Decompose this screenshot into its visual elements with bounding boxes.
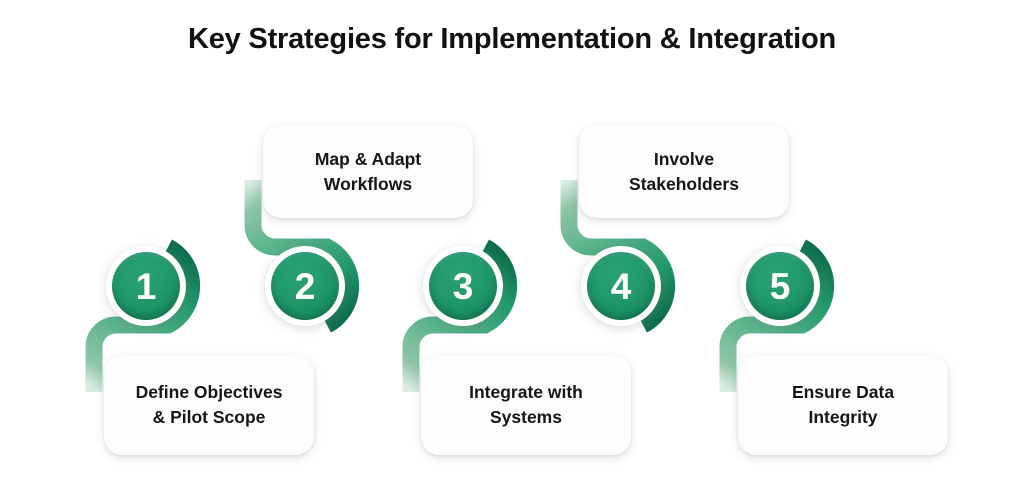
step-label-line1: Involve xyxy=(654,149,714,169)
step-number-badge-5[interactable]: 5 xyxy=(740,246,820,326)
badge-circle: 2 xyxy=(271,252,339,320)
step-label-line2: Integrity xyxy=(808,407,877,427)
infographic-canvas: Key Strategies for Implementation & Inte… xyxy=(0,0,1024,481)
step-label-text: Ensure DataIntegrity xyxy=(792,380,894,430)
step-number-text: 2 xyxy=(295,268,316,305)
step-number-badge-1[interactable]: 1 xyxy=(106,246,186,326)
process-step-5: 5Ensure DataIntegrity xyxy=(716,0,946,481)
step-number-badge-2[interactable]: 2 xyxy=(265,246,345,326)
step-number-text: 3 xyxy=(453,268,474,305)
step-number-text: 4 xyxy=(611,268,632,305)
step-label-line2: Systems xyxy=(490,407,562,427)
step-number-text: 5 xyxy=(770,268,791,305)
badge-circle: 1 xyxy=(112,252,180,320)
badge-circle: 3 xyxy=(429,252,497,320)
step-label-card-5[interactable]: Ensure DataIntegrity xyxy=(738,355,948,455)
step-number-text: 1 xyxy=(136,268,157,305)
badge-circle: 4 xyxy=(587,252,655,320)
step-label-line1: Ensure Data xyxy=(792,382,894,402)
step-number-badge-4[interactable]: 4 xyxy=(581,246,661,326)
badge-circle: 5 xyxy=(746,252,814,320)
process-steps-container: 1Define Objectives& Pilot Scope2Map & Ad… xyxy=(0,0,1024,481)
step-number-badge-3[interactable]: 3 xyxy=(423,246,503,326)
